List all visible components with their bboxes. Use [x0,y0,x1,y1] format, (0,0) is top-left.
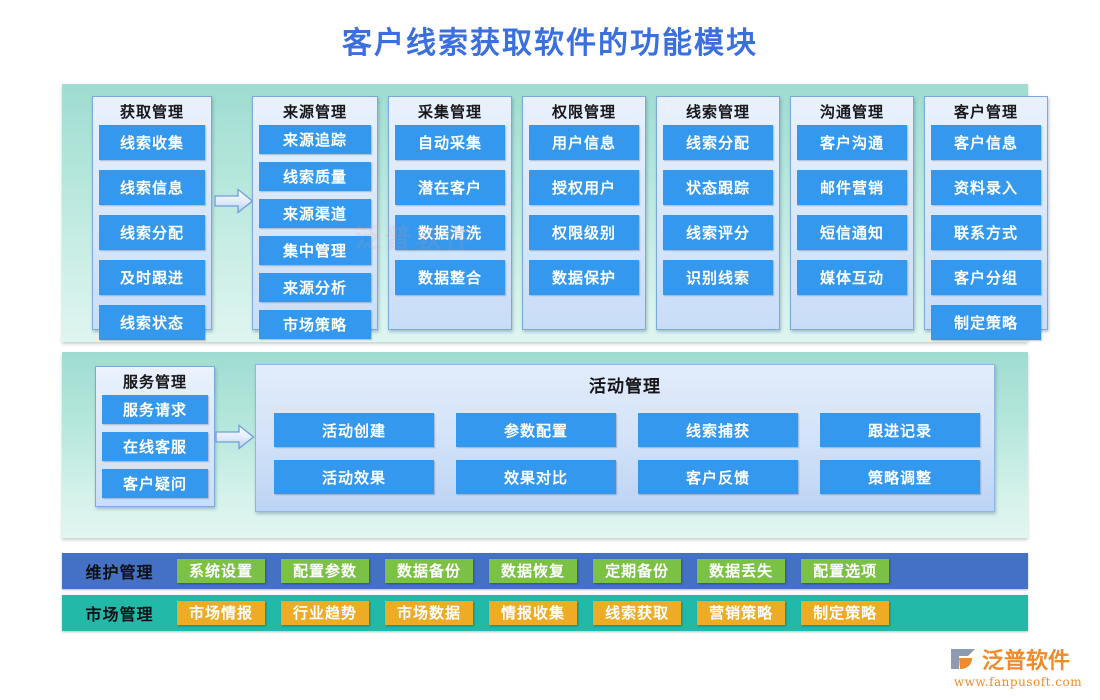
module-item[interactable]: 数据整合 [395,260,505,295]
top-modules-panel: 获取管理 线索收集 线索信息 线索分配 及时跟进 线索状态 来源管理 来源追踪 … [62,84,1028,342]
module-column-4[interactable]: 线索管理 线索分配 状态跟踪 线索评分 识别线索 [656,96,780,330]
market-item[interactable]: 情报收集 [489,601,577,625]
module-item[interactable]: 状态跟踪 [663,170,773,205]
module-column-header: 沟通管理 [791,97,913,125]
activity-item[interactable]: 效果对比 [456,460,616,494]
module-item[interactable]: 线索分配 [99,215,205,250]
arrow-right-icon [215,424,255,450]
module-item[interactable]: 潜在客户 [395,170,505,205]
module-item[interactable]: 线索质量 [259,162,371,191]
market-item[interactable]: 营销策略 [697,601,785,625]
fanpu-logo-icon [948,645,978,673]
module-item[interactable]: 线索信息 [99,170,205,205]
activity-item[interactable]: 参数配置 [456,413,616,447]
activity-item[interactable]: 跟进记录 [820,413,980,447]
module-item[interactable]: 媒体互动 [797,260,907,295]
service-item[interactable]: 服务请求 [102,395,208,424]
maintenance-item[interactable]: 数据恢复 [489,559,577,583]
module-item[interactable]: 及时跟进 [99,260,205,295]
activity-panel: 活动管理 活动创建 参数配置 线索捕获 跟进记录 活动效果 效果对比 客户反馈 … [255,364,995,512]
service-activity-panel: 服务管理 服务请求 在线客服 客户疑问 活动管理 活动创建 参数配置 线索捕获 … [62,352,1028,538]
market-item[interactable]: 市场数据 [385,601,473,625]
market-bar-label: 市场管理 [62,601,177,625]
module-column-3[interactable]: 权限管理 用户信息 授权用户 权限级别 数据保护 [522,96,646,330]
maintenance-item[interactable]: 数据丢失 [697,559,785,583]
maintenance-bar-label: 维护管理 [62,559,177,583]
module-item[interactable]: 短信通知 [797,215,907,250]
activity-item[interactable]: 活动效果 [274,460,434,494]
fanpu-logo-url: www.fanpusoft.com [948,675,1088,689]
module-item[interactable]: 线索评分 [663,215,773,250]
module-column-1[interactable]: 来源管理 来源追踪 线索质量 来源渠道 集中管理 来源分析 市场策略 [252,96,378,330]
module-item[interactable]: 客户沟通 [797,125,907,160]
service-item[interactable]: 客户疑问 [102,469,208,498]
module-item[interactable]: 线索收集 [99,125,205,160]
market-item[interactable]: 市场情报 [177,601,265,625]
market-item[interactable]: 行业趋势 [281,601,369,625]
module-column-header: 线索管理 [657,97,779,125]
module-column-header: 权限管理 [523,97,645,125]
maintenance-bar: 维护管理 系统设置 配置参数 数据备份 数据恢复 定期备份 数据丢失 配置选项 [62,553,1028,589]
page-title: 客户线索获取软件的功能模块 [0,18,1100,62]
module-item[interactable]: 客户信息 [931,125,1041,160]
module-column-header: 获取管理 [93,97,211,125]
market-item[interactable]: 线索获取 [593,601,681,625]
module-column-header: 客户管理 [925,97,1047,125]
module-item[interactable]: 数据保护 [529,260,639,295]
service-item[interactable]: 在线客服 [102,432,208,461]
maintenance-item[interactable]: 定期备份 [593,559,681,583]
module-column-5[interactable]: 沟通管理 客户沟通 邮件营销 短信通知 媒体互动 [790,96,914,330]
activity-item[interactable]: 策略调整 [820,460,980,494]
market-item[interactable]: 制定策略 [801,601,889,625]
module-column-header: 来源管理 [253,97,377,125]
module-column-header: 采集管理 [389,97,511,125]
activity-item[interactable]: 线索捕获 [638,413,798,447]
module-item[interactable]: 市场策略 [259,310,371,339]
module-item[interactable]: 制定策略 [931,305,1041,340]
module-item[interactable]: 授权用户 [529,170,639,205]
module-item[interactable]: 集中管理 [259,236,371,265]
activity-panel-title: 活动管理 [256,365,994,397]
module-item[interactable]: 联系方式 [931,215,1041,250]
module-item[interactable]: 邮件营销 [797,170,907,205]
fanpu-logo: 泛普软件 www.fanpusoft.com [948,644,1088,692]
maintenance-item[interactable]: 数据备份 [385,559,473,583]
module-item[interactable]: 客户分组 [931,260,1041,295]
module-item[interactable]: 来源渠道 [259,199,371,228]
module-item[interactable]: 来源分析 [259,273,371,302]
module-item[interactable]: 线索状态 [99,305,205,340]
service-card-header: 服务管理 [96,367,214,395]
module-item[interactable]: 数据清洗 [395,215,505,250]
market-bar: 市场管理 市场情报 行业趋势 市场数据 情报收集 线索获取 营销策略 制定策略 [62,595,1028,631]
module-item[interactable]: 线索分配 [663,125,773,160]
module-item[interactable]: 权限级别 [529,215,639,250]
module-column-0[interactable]: 获取管理 线索收集 线索信息 线索分配 及时跟进 线索状态 [92,96,212,330]
maintenance-item[interactable]: 系统设置 [177,559,265,583]
module-item[interactable]: 资料录入 [931,170,1041,205]
activity-grid: 活动创建 参数配置 线索捕获 跟进记录 活动效果 效果对比 客户反馈 策略调整 [274,413,980,494]
maintenance-item[interactable]: 配置参数 [281,559,369,583]
maintenance-item[interactable]: 配置选项 [801,559,889,583]
arrow-right-icon [214,188,254,214]
activity-item[interactable]: 活动创建 [274,413,434,447]
module-item[interactable]: 用户信息 [529,125,639,160]
module-column-2[interactable]: 采集管理 自动采集 潜在客户 数据清洗 数据整合 [388,96,512,330]
module-item[interactable]: 来源追踪 [259,125,371,154]
module-item[interactable]: 自动采集 [395,125,505,160]
fanpu-logo-text: 泛普软件 [982,643,1070,675]
activity-item[interactable]: 客户反馈 [638,460,798,494]
module-column-6[interactable]: 客户管理 客户信息 资料录入 联系方式 客户分组 制定策略 [924,96,1048,330]
service-card[interactable]: 服务管理 服务请求 在线客服 客户疑问 [95,366,215,507]
module-item[interactable]: 识别线索 [663,260,773,295]
